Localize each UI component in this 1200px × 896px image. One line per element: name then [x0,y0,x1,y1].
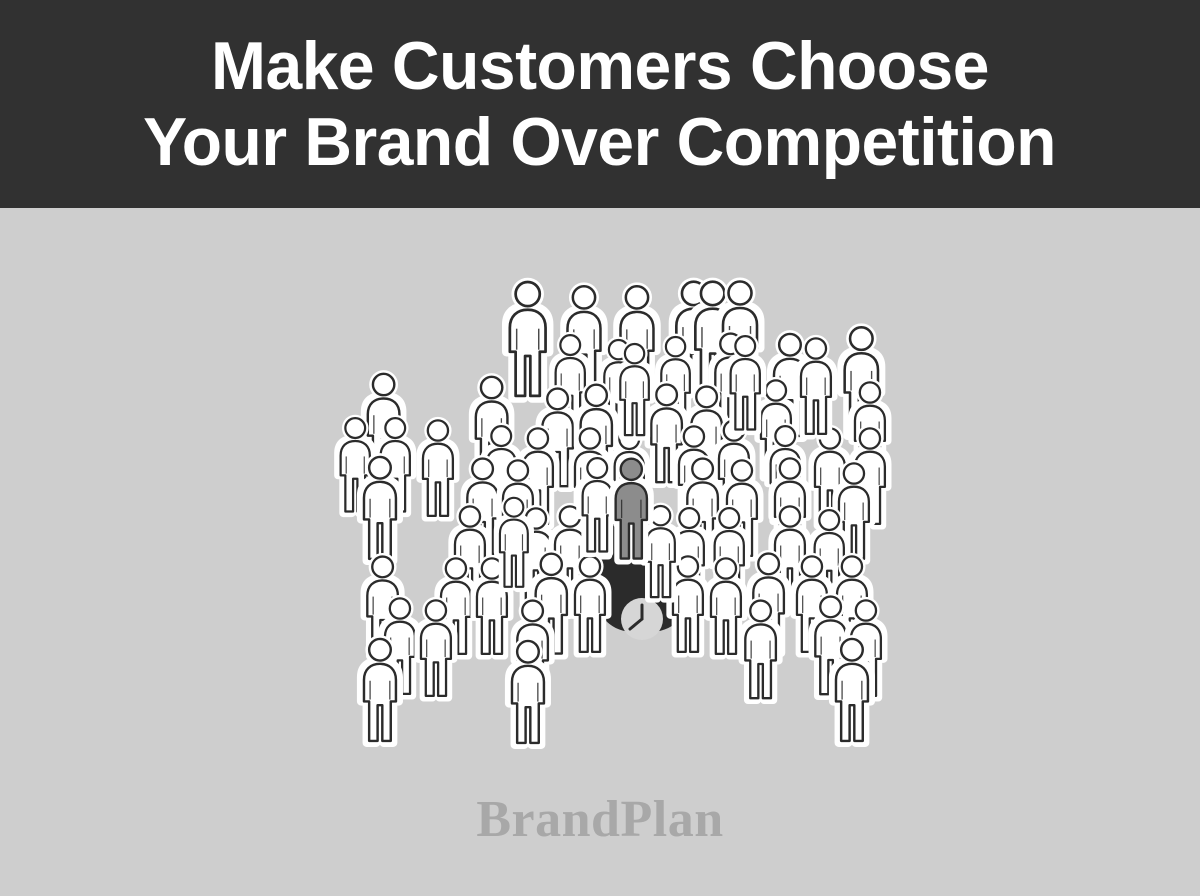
illustration-stage: BrandPlan [0,208,1200,896]
crowd-person-figure [730,592,791,707]
page-title-line-1: Make Customers Choose [211,28,989,104]
crowd-person-figure [486,490,542,595]
crowd-person-figure [786,330,846,443]
crowd-illustration [0,208,1200,768]
crowd-person-figure [496,632,560,752]
crowd-person-figure [406,592,466,705]
brand-watermark: BrandPlan [0,790,1200,849]
crowd-person-figure [820,630,884,750]
slide-root: Make Customers Choose Your Brand Over Co… [0,0,1200,896]
crowd-person-figure [606,336,663,444]
crowd-person-figure [348,630,412,750]
header-banner: Make Customers Choose Your Brand Over Co… [0,0,1200,208]
page-title-line-2: Your Brand Over Competition [144,104,1057,180]
crowd-person-figure [716,328,774,438]
selected-person-figure[interactable] [600,450,663,568]
